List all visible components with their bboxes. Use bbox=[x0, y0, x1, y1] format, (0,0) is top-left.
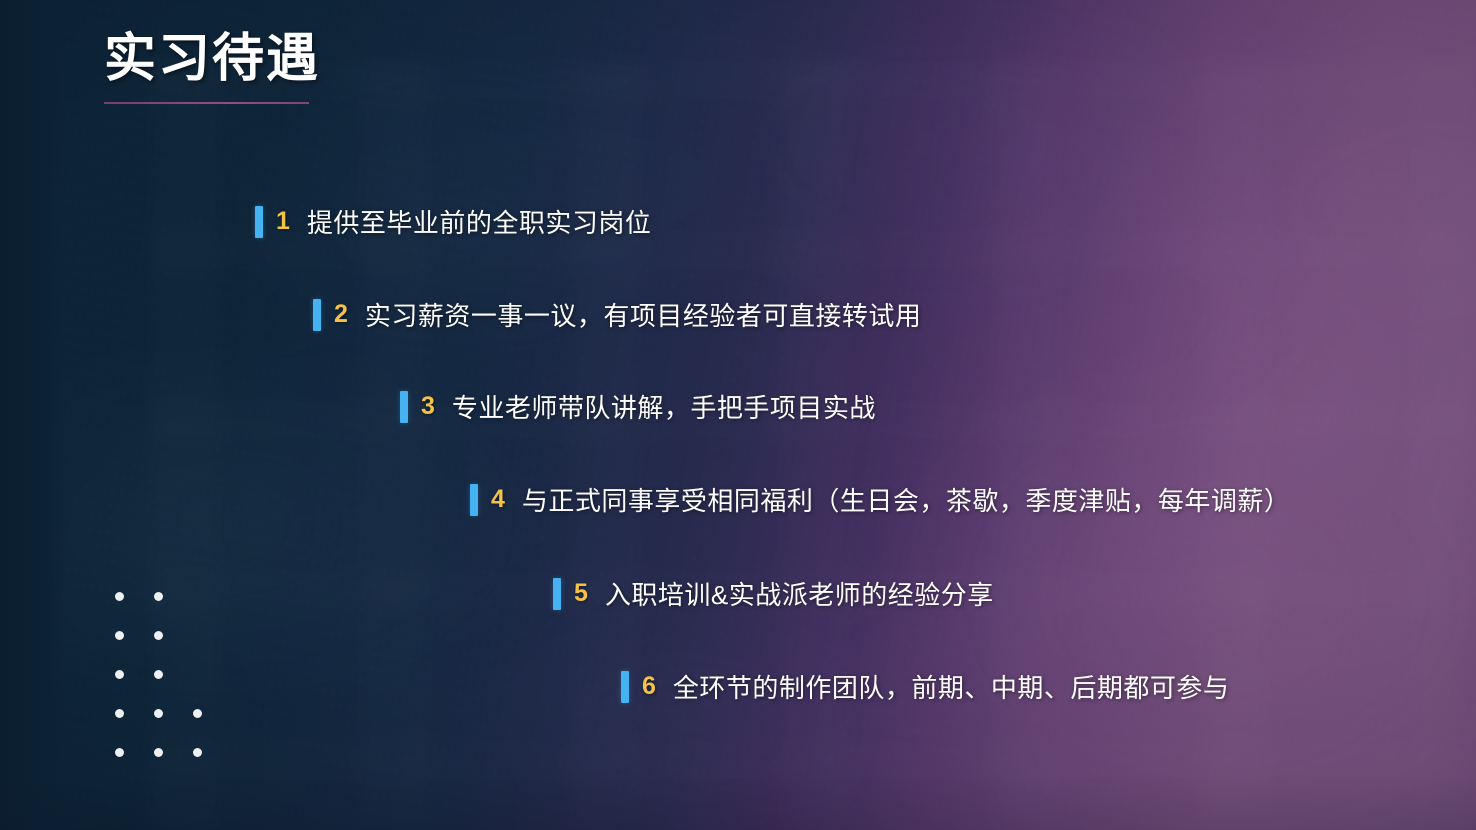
list-item-number: 4 bbox=[491, 485, 505, 514]
list-item: 4与正式同事享受相同福利（生日会，茶歇，季度津贴，每年调薪） bbox=[470, 481, 1290, 518]
dot-icon bbox=[154, 670, 163, 679]
list-item: 6全环节的制作团队，前期、中期、后期都可参与 bbox=[621, 668, 1229, 705]
list-item-label: 全环节的制作团队，前期、中期、后期都可参与 bbox=[673, 668, 1230, 705]
dot-icon bbox=[154, 709, 163, 718]
list-item-number: 3 bbox=[421, 392, 435, 421]
accent-bar-icon bbox=[621, 671, 629, 703]
dot-icon bbox=[115, 631, 124, 640]
dot-icon bbox=[115, 592, 124, 601]
accent-bar-icon bbox=[553, 578, 561, 610]
accent-bar-icon bbox=[313, 299, 321, 331]
list-item-number: 6 bbox=[642, 672, 656, 701]
list-item-label: 专业老师带队讲解，手把手项目实战 bbox=[452, 388, 876, 425]
list-item-label: 提供至毕业前的全职实习岗位 bbox=[307, 203, 652, 240]
list-item-label: 与正式同事享受相同福利（生日会，茶歇，季度津贴，每年调薪） bbox=[522, 481, 1291, 518]
dot-icon bbox=[154, 748, 163, 757]
list-item-number: 5 bbox=[574, 579, 588, 608]
dot-icon bbox=[115, 709, 124, 718]
list-item: 1提供至毕业前的全职实习岗位 bbox=[255, 203, 651, 240]
dot-icon bbox=[115, 748, 124, 757]
background-bottom-band bbox=[0, 774, 1476, 830]
slide-root: 实习待遇 1提供至毕业前的全职实习岗位2实习薪资一事一议，有项目经验者可直接转试… bbox=[0, 0, 1476, 830]
dot-icon bbox=[154, 631, 163, 640]
list-item-label: 入职培训&实战派老师的经验分享 bbox=[605, 575, 994, 612]
dot-icon bbox=[115, 670, 124, 679]
title-underline bbox=[104, 102, 309, 104]
page-title: 实习待遇 bbox=[104, 30, 320, 90]
list-item: 2实习薪资一事一议，有项目经验者可直接转试用 bbox=[313, 296, 921, 333]
dot-icon bbox=[193, 709, 202, 718]
title-block: 实习待遇 bbox=[104, 30, 320, 104]
dot-icon bbox=[193, 748, 202, 757]
list-item: 3专业老师带队讲解，手把手项目实战 bbox=[400, 388, 876, 425]
dot-icon bbox=[154, 592, 163, 601]
list-item-number: 1 bbox=[276, 207, 290, 236]
accent-bar-icon bbox=[400, 391, 408, 423]
list-item: 5入职培训&实战派老师的经验分享 bbox=[553, 575, 994, 612]
list-item-number: 2 bbox=[334, 300, 348, 329]
background-left-strip bbox=[0, 0, 66, 830]
accent-bar-icon bbox=[255, 206, 263, 238]
list-item-label: 实习薪资一事一议，有项目经验者可直接转试用 bbox=[365, 296, 922, 333]
accent-bar-icon bbox=[470, 484, 478, 516]
